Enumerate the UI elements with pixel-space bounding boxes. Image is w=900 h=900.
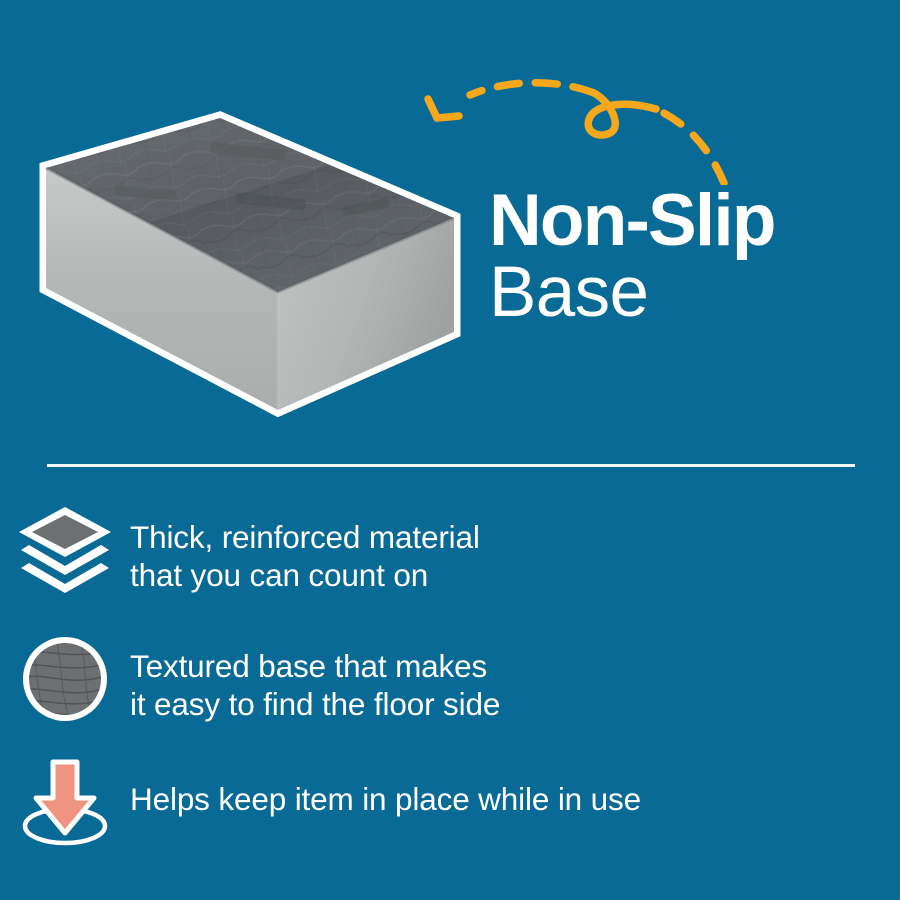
infographic-root: Non-Slip Base Thick, reinforced material… (0, 0, 900, 900)
feature-label-texture: Textured base that makes it easy to find… (130, 625, 900, 723)
feature-item-material: Thick, reinforced material that you can … (0, 497, 900, 625)
hero-section: Non-Slip Base (0, 0, 900, 465)
feature-label-grip: Helps keep item in place while in use (130, 750, 900, 818)
page-title: Non-Slip Base (489, 186, 889, 328)
headline-line-2: Base (489, 259, 889, 328)
section-divider (47, 464, 855, 467)
layers-icon (0, 497, 130, 601)
feature-label-material: Thick, reinforced material that you can … (130, 497, 900, 594)
feature-item-texture: Textured base that makes it easy to find… (0, 625, 900, 750)
feature-item-grip: Helps keep item in place while in use (0, 750, 900, 868)
feature-list: Thick, reinforced material that you can … (0, 497, 900, 868)
textured-circle-icon (0, 625, 130, 729)
callout-arrow-icon (398, 55, 728, 185)
headline-line-1: Non-Slip (489, 186, 889, 257)
down-arrow-into-surface-icon (0, 750, 130, 854)
